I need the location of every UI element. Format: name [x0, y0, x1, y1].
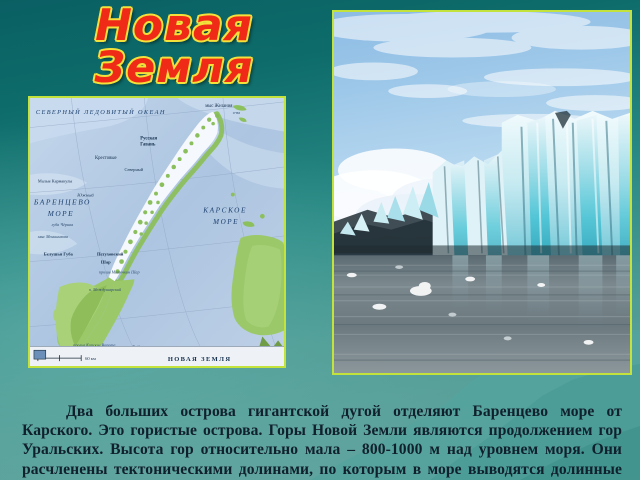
- map-label-mys-menshikova: мыс Меньшикова: [37, 234, 68, 239]
- map-svg: СЕВЕРНЫЙ ЛЕДОВИТЫЙ ОКЕАН БАРЕНЦЕВО МОРЕ …: [30, 98, 284, 366]
- map-caption: НОВАЯ ЗЕМЛЯ: [168, 356, 232, 363]
- title-line-1: Новая: [24, 4, 324, 47]
- slide-canvas: Новая Земля: [0, 0, 640, 480]
- map-label-petuhovskij: Петуховский: [97, 252, 124, 257]
- map-label-krestovye-1: Крестовые: [95, 156, 117, 161]
- page-title: Новая Земля: [24, 4, 324, 89]
- map-label-barents-sea-2: МОРЕ: [47, 210, 74, 218]
- map-label-mys-zhelaniya: мыс Желания: [205, 104, 233, 109]
- map-label-matochkin-shar: пролив Маточкин Шар: [99, 269, 140, 274]
- map-label-yuzhnyj: Южный: [76, 193, 94, 198]
- map-locator-inset: [34, 350, 46, 359]
- glacier-photo: [332, 10, 632, 375]
- map-label-russkaya-gavan-1: Русская: [140, 136, 157, 141]
- map-label-kara-sea-1: КАРСКОЕ: [202, 206, 247, 214]
- map-label-kara-sea-2: МОРЕ: [212, 218, 239, 226]
- map-label-belushya-guba: Белушья Губа: [44, 252, 74, 257]
- title-line-2: Земля: [24, 47, 324, 89]
- body-paragraph: Два больших острова гигантской дугой отд…: [22, 402, 622, 480]
- map-image: СЕВЕРНЫЙ ЛЕДОВИТЫЙ ОКЕАН БАРЕНЦЕВО МОРЕ …: [28, 96, 286, 368]
- map-label-shar: Шар: [101, 260, 111, 265]
- map-label-krestovye-2: о-ва: [233, 110, 240, 115]
- map-label-arctic-ocean: СЕВЕРНЫЙ ЛЕДОВИТЫЙ ОКЕАН: [36, 108, 166, 116]
- map-scale-label: 60 км: [85, 356, 96, 361]
- glacier-photo-svg: [334, 12, 630, 373]
- map-label-malye-karmakuly: Малые Кармакулы: [38, 179, 73, 184]
- map-label-guba-chernaya: губа Чёрная: [52, 222, 73, 227]
- map-label-russkaya-gavan-2: Гавань: [140, 142, 156, 147]
- map-label-mezhdusharskij: о. Междушарский: [89, 287, 122, 292]
- map-label-severnyj: Северный: [125, 167, 144, 172]
- map-label-barents-sea-1: БАРЕНЦЕВО: [33, 197, 91, 206]
